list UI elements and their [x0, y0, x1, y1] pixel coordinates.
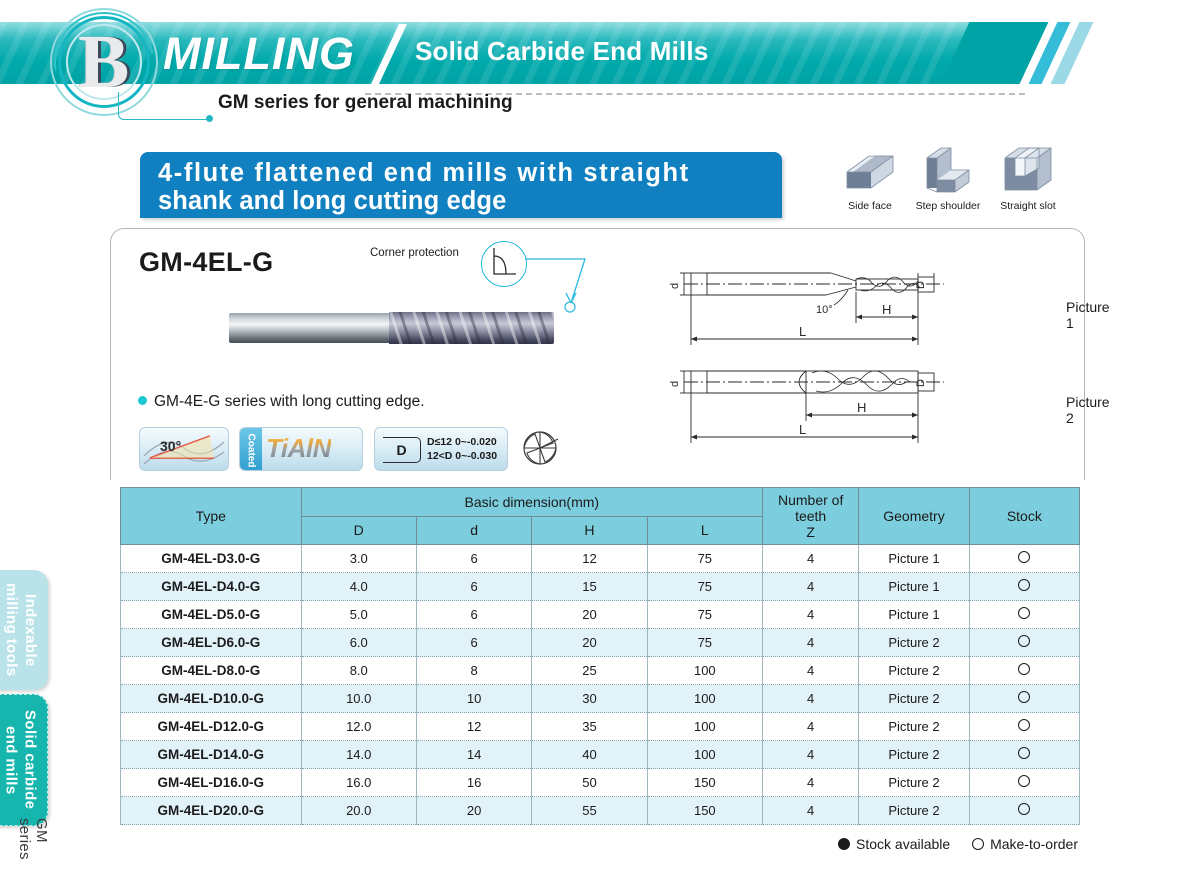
sidebar-item-label: Solid carbideend mills — [2, 710, 40, 809]
svg-text:L: L — [799, 422, 806, 437]
cell-teeth: 4 — [763, 797, 859, 825]
series-caption: GM series for general machining — [218, 92, 513, 114]
cell-geometry: Picture 2 — [859, 741, 969, 769]
cell-geometry: Picture 2 — [859, 769, 969, 797]
cell-teeth: 4 — [763, 629, 859, 657]
svg-text:d: d — [669, 381, 681, 387]
cell-shank-diameter: 8 — [416, 657, 531, 685]
cell-cutting-length: 15 — [532, 573, 647, 601]
svg-text:H: H — [857, 400, 866, 415]
cell-stock — [969, 713, 1079, 741]
open-circle-icon — [1018, 607, 1030, 619]
cell-geometry: Picture 2 — [859, 797, 969, 825]
operation-side-face: Side face — [830, 142, 910, 212]
cell-shank-diameter: 12 — [416, 713, 531, 741]
product-note: GM-4E-G series with long cutting edge. — [138, 393, 425, 411]
cell-diameter: 8.0 — [301, 657, 416, 685]
operation-icons: Side face Step shoulder — [830, 142, 1070, 224]
coated-tab: Coated — [240, 428, 262, 471]
page-header: MILLING Solid Carbide End Mills — [0, 22, 1187, 84]
cell-stock — [969, 657, 1079, 685]
cell-type: GM-4EL-D14.0-G — [121, 741, 302, 769]
table-row: GM-4EL-D20.0-G20.020551504Picture 2 — [121, 797, 1080, 825]
cell-overall-length: 100 — [647, 657, 762, 685]
product-note-text: GM-4E-G series with long cutting edge. — [154, 393, 425, 410]
dimension-drawings-svg: d D H L 10° — [666, 251, 1066, 451]
cell-type: GM-4EL-D4.0-G — [121, 573, 302, 601]
cell-diameter: 3.0 — [301, 545, 416, 573]
th-teeth-line1: Number of — [765, 492, 856, 508]
cell-diameter: 5.0 — [301, 601, 416, 629]
cell-stock — [969, 601, 1079, 629]
legend-make-to-order-label: Make-to-order — [990, 836, 1078, 852]
cell-teeth: 4 — [763, 713, 859, 741]
cell-diameter: 6.0 — [301, 629, 416, 657]
corner-callout-arrow-icon — [511, 255, 621, 325]
side-face-icon — [841, 142, 899, 198]
cell-stock — [969, 797, 1079, 825]
cell-overall-length: 75 — [647, 601, 762, 629]
four-flute-cross-section-icon — [517, 427, 563, 469]
th-type: Type — [121, 488, 302, 545]
svg-text:L: L — [799, 324, 806, 339]
open-circle-icon — [1018, 803, 1030, 815]
cell-geometry: Picture 2 — [859, 713, 969, 741]
cell-stock — [969, 545, 1079, 573]
cell-diameter: 16.0 — [301, 769, 416, 797]
cell-teeth: 4 — [763, 601, 859, 629]
th-D: D — [301, 516, 416, 545]
cell-teeth: 4 — [763, 741, 859, 769]
tolerance-symbol: D — [383, 437, 421, 463]
th-number-of-teeth: Number of teeth Z — [763, 488, 859, 545]
open-circle-icon — [1018, 663, 1030, 675]
cell-overall-length: 100 — [647, 713, 762, 741]
header-subtitle: Solid Carbide End Mills — [415, 36, 709, 67]
cell-stock — [969, 573, 1079, 601]
table-body: GM-4EL-D3.0-G3.0612754Picture 1GM-4EL-D4… — [121, 545, 1080, 825]
operation-step-shoulder: Step shoulder — [908, 142, 988, 212]
cell-type: GM-4EL-D12.0-G — [121, 713, 302, 741]
step-shoulder-icon — [919, 142, 977, 198]
cell-diameter: 10.0 — [301, 685, 416, 713]
cell-geometry: Picture 2 — [859, 685, 969, 713]
table-row: GM-4EL-D14.0-G14.014401004Picture 2 — [121, 741, 1080, 769]
cell-diameter: 14.0 — [301, 741, 416, 769]
legend-stock-available: Stock available — [838, 836, 950, 852]
product-detail-card: GM-4EL-G Corner protection GM-4E-G serie… — [110, 228, 1085, 480]
picture-2-label: Picture 2 — [1066, 394, 1110, 426]
table-row: GM-4EL-D4.0-G4.0615754Picture 1 — [121, 573, 1080, 601]
coating-badge: Coated TiAlN — [239, 427, 363, 471]
product-title-line2: shank and long cutting edge — [158, 187, 762, 215]
product-code: GM-4EL-G — [139, 247, 273, 278]
cell-type: GM-4EL-D8.0-G — [121, 657, 302, 685]
svg-text:10°: 10° — [816, 304, 833, 316]
svg-text:D: D — [915, 379, 927, 387]
operation-label: Step shoulder — [908, 200, 988, 212]
cell-teeth: 4 — [763, 657, 859, 685]
cell-shank-diameter: 20 — [416, 797, 531, 825]
coated-label: Coated — [246, 433, 257, 467]
cell-cutting-length: 55 — [532, 797, 647, 825]
cell-cutting-length: 20 — [532, 629, 647, 657]
table-row: GM-4EL-D6.0-G6.0620754Picture 2 — [121, 629, 1080, 657]
open-circle-icon — [1018, 551, 1030, 563]
series-connector-dot-icon — [206, 115, 213, 122]
th-stock: Stock — [969, 488, 1079, 545]
sidebar-item-label: Indexablemilling tools — [2, 583, 40, 677]
cell-cutting-length: 35 — [532, 713, 647, 741]
th-H: H — [532, 516, 647, 545]
filled-circle-icon — [838, 838, 850, 850]
cell-overall-length: 100 — [647, 741, 762, 769]
th-geometry: Geometry — [859, 488, 969, 545]
corner-protection-label: Corner protection — [370, 247, 459, 259]
open-circle-icon — [1018, 635, 1030, 647]
cell-cutting-length: 20 — [532, 601, 647, 629]
open-circle-icon — [972, 838, 984, 850]
cell-shank-diameter: 6 — [416, 545, 531, 573]
helix-angle-badge: 30° — [139, 427, 229, 471]
cell-overall-length: 75 — [647, 629, 762, 657]
th-teeth-line2: teeth — [765, 508, 856, 524]
product-title-line1: 4-flute flattened end mills with straigh… — [158, 159, 762, 187]
cell-type: GM-4EL-D5.0-G — [121, 601, 302, 629]
cell-diameter: 12.0 — [301, 713, 416, 741]
open-circle-icon — [1018, 579, 1030, 591]
cell-geometry: Picture 2 — [859, 657, 969, 685]
cell-overall-length: 75 — [647, 545, 762, 573]
table-header-row-1: Type Basic dimension(mm) Number of teeth… — [121, 488, 1080, 517]
cell-type: GM-4EL-D20.0-G — [121, 797, 302, 825]
cell-cutting-length: 40 — [532, 741, 647, 769]
sidebar-item-indexable-milling-tools[interactable]: Indexablemilling tools — [0, 570, 48, 690]
table-row: GM-4EL-D5.0-G5.0620754Picture 1 — [121, 601, 1080, 629]
cell-geometry: Picture 2 — [859, 629, 969, 657]
cell-shank-diameter: 16 — [416, 769, 531, 797]
cell-overall-length: 75 — [647, 573, 762, 601]
coating-name: TiAlN — [266, 433, 331, 464]
tolerance-line-2: 12<D 0~-0.030 — [427, 449, 497, 463]
cell-shank-diameter: 6 — [416, 629, 531, 657]
cell-geometry: Picture 1 — [859, 601, 969, 629]
operation-label: Straight slot — [988, 200, 1068, 212]
tool-shank — [229, 313, 391, 343]
helix-angle-icon — [140, 428, 228, 470]
th-basic-dimension: Basic dimension(mm) — [301, 488, 762, 517]
open-circle-icon — [1018, 775, 1030, 787]
table-row: GM-4EL-D10.0-G10.010301004Picture 2 — [121, 685, 1080, 713]
operation-straight-slot: Straight slot — [988, 142, 1068, 212]
engineering-drawings: d D H L 10° — [666, 251, 1066, 451]
stock-legend: Stock available Make-to-order — [820, 836, 1078, 852]
cell-cutting-length: 12 — [532, 545, 647, 573]
series-connector-line — [118, 92, 210, 120]
table-row: GM-4EL-D3.0-G3.0612754Picture 1 — [121, 545, 1080, 573]
legend-make-to-order: Make-to-order — [972, 836, 1078, 852]
cell-stock — [969, 629, 1079, 657]
open-circle-icon — [1018, 719, 1030, 731]
straight-slot-icon — [999, 142, 1057, 198]
cell-stock — [969, 769, 1079, 797]
th-L: L — [647, 516, 762, 545]
cell-shank-diameter: 14 — [416, 741, 531, 769]
helix-angle-value: 30° — [160, 438, 181, 454]
picture-1-label: Picture 1 — [1066, 299, 1110, 331]
cell-teeth: 4 — [763, 769, 859, 797]
tolerance-values: D≤12 0~-0.020 12<D 0~-0.030 — [427, 435, 497, 463]
svg-text:H: H — [882, 302, 891, 317]
cell-shank-diameter: 6 — [416, 601, 531, 629]
cell-diameter: 20.0 — [301, 797, 416, 825]
bullet-dot-icon — [138, 396, 147, 405]
cell-type: GM-4EL-D3.0-G — [121, 545, 302, 573]
sidebar-footer-label: GM series — [16, 818, 50, 884]
cell-cutting-length: 50 — [532, 769, 647, 797]
cell-overall-length: 150 — [647, 797, 762, 825]
table-row: GM-4EL-D12.0-G12.012351004Picture 2 — [121, 713, 1080, 741]
cell-geometry: Picture 1 — [859, 545, 969, 573]
feature-badges: 30° Coated TiAlN D D≤12 0~-0.020 12<D 0~… — [139, 427, 559, 473]
category-title: MILLING — [163, 28, 355, 80]
cell-stock — [969, 685, 1079, 713]
cell-teeth: 4 — [763, 573, 859, 601]
product-photo — [229, 307, 554, 349]
cell-overall-length: 150 — [647, 769, 762, 797]
cell-geometry: Picture 1 — [859, 573, 969, 601]
specification-table: Type Basic dimension(mm) Number of teeth… — [120, 487, 1080, 825]
cell-overall-length: 100 — [647, 685, 762, 713]
table-head: Type Basic dimension(mm) Number of teeth… — [121, 488, 1080, 545]
cell-cutting-length: 30 — [532, 685, 647, 713]
cell-type: GM-4EL-D10.0-G — [121, 685, 302, 713]
tolerance-badge: D D≤12 0~-0.020 12<D 0~-0.030 — [374, 427, 508, 471]
cell-teeth: 4 — [763, 545, 859, 573]
cell-shank-diameter: 6 — [416, 573, 531, 601]
cell-shank-diameter: 10 — [416, 685, 531, 713]
cell-cutting-length: 25 — [532, 657, 647, 685]
tolerance-line-1: D≤12 0~-0.020 — [427, 435, 497, 449]
table-row: GM-4EL-D8.0-G8.08251004Picture 2 — [121, 657, 1080, 685]
th-d: d — [416, 516, 531, 545]
cell-type: GM-4EL-D16.0-G — [121, 769, 302, 797]
open-circle-icon — [1018, 691, 1030, 703]
cell-diameter: 4.0 — [301, 573, 416, 601]
svg-text:D: D — [915, 281, 927, 289]
product-title-banner: 4-flute flattened end mills with straigh… — [140, 152, 782, 218]
operation-label: Side face — [830, 200, 910, 212]
cell-teeth: 4 — [763, 685, 859, 713]
cell-type: GM-4EL-D6.0-G — [121, 629, 302, 657]
table-row: GM-4EL-D16.0-G16.016501504Picture 2 — [121, 769, 1080, 797]
svg-text:d: d — [669, 283, 681, 289]
th-teeth-line3: Z — [765, 524, 856, 540]
open-circle-icon — [1018, 747, 1030, 759]
flute-count-badge — [517, 427, 565, 471]
cell-stock — [969, 741, 1079, 769]
sidebar-item-solid-carbide-end-mills[interactable]: Solid carbideend mills — [0, 694, 48, 826]
legend-stock-available-label: Stock available — [856, 836, 950, 852]
